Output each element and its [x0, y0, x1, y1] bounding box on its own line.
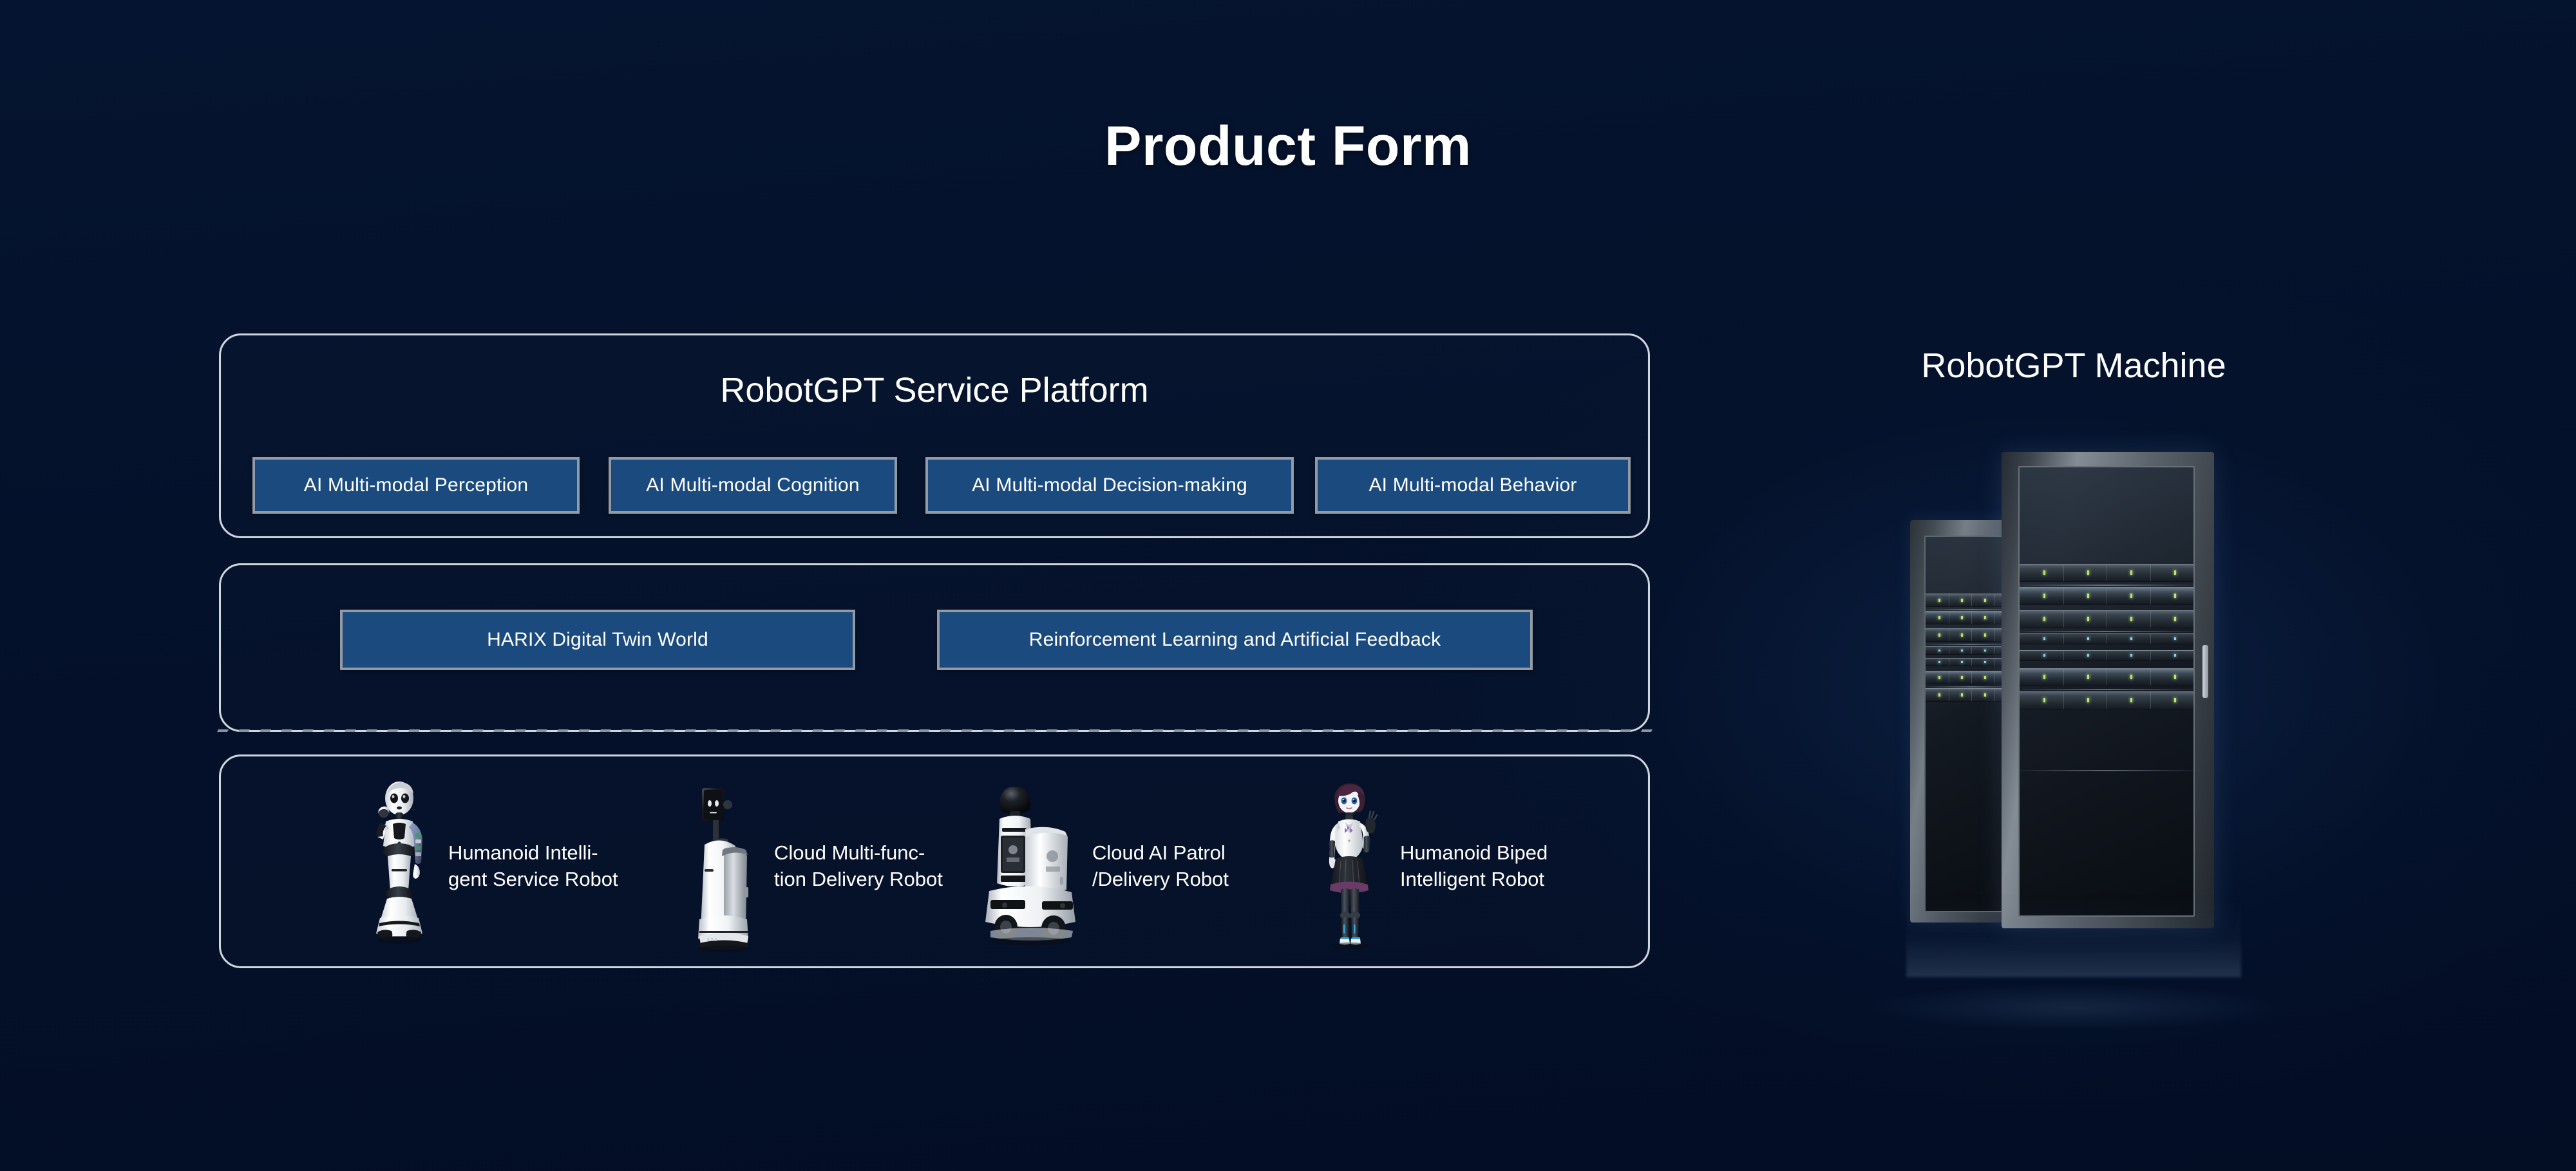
robot-item-biped-humanoid[interactable]: Humanoid Biped Intelligent Robot — [1307, 779, 1548, 953]
robot-item-patrol-delivery[interactable]: Cloud AI Patrol /Delivery Robot — [980, 779, 1229, 953]
machine-floor-glow — [1868, 985, 2280, 1030]
chip-reinforcement-learning-artificial-feedback[interactable]: Reinforcement Learning and Artificial Fe… — [937, 610, 1533, 670]
chip-ai-multimodal-decision-making[interactable]: AI Multi-modal Decision-making — [925, 457, 1294, 514]
humanoid-service-robot-icon — [355, 779, 439, 953]
rack-front-glass-door — [2018, 466, 2195, 917]
section-divider — [217, 729, 1653, 732]
chip-harix-digital-twin-world[interactable]: HARIX Digital Twin World — [340, 610, 855, 670]
robot-label: Humanoid Intelli- gent Service Robot — [448, 839, 618, 892]
cloud-delivery-robot-icon: 8 8 3 — [681, 779, 765, 953]
rack-door-handle[interactable] — [2202, 645, 2208, 698]
robot-label: Cloud Multi-func- tion Delivery Robot — [774, 839, 943, 892]
biped-humanoid-robot-icon — [1307, 779, 1391, 953]
robot-label: Cloud AI Patrol /Delivery Robot — [1092, 839, 1229, 892]
server-rack-front — [2002, 452, 2214, 928]
robot-item-cloud-delivery[interactable]: 8 8 3 Cloud Multi-func- tion Delivery Ro… — [681, 779, 943, 953]
slide-canvas: Product Form RobotGPT Service Platform A… — [0, 0, 2576, 1171]
platform-panel-title: RobotGPT Service Platform — [219, 370, 1650, 410]
chip-ai-multimodal-cognition[interactable]: AI Multi-modal Cognition — [609, 457, 897, 514]
svg-text:8 8 3: 8 8 3 — [707, 938, 717, 942]
chip-ai-multimodal-perception[interactable]: AI Multi-modal Perception — [252, 457, 580, 514]
robot-item-humanoid-service[interactable]: Humanoid Intelli- gent Service Robot — [355, 779, 618, 953]
robot-label: Humanoid Biped Intelligent Robot — [1400, 839, 1548, 892]
machine-title: RobotGPT Machine — [1803, 346, 2344, 386]
machine-reflection — [1906, 894, 2241, 977]
patrol-delivery-robot-icon — [980, 779, 1083, 953]
page-title: Product Form — [0, 115, 2576, 178]
chip-ai-multimodal-behavior[interactable]: AI Multi-modal Behavior — [1315, 457, 1631, 514]
